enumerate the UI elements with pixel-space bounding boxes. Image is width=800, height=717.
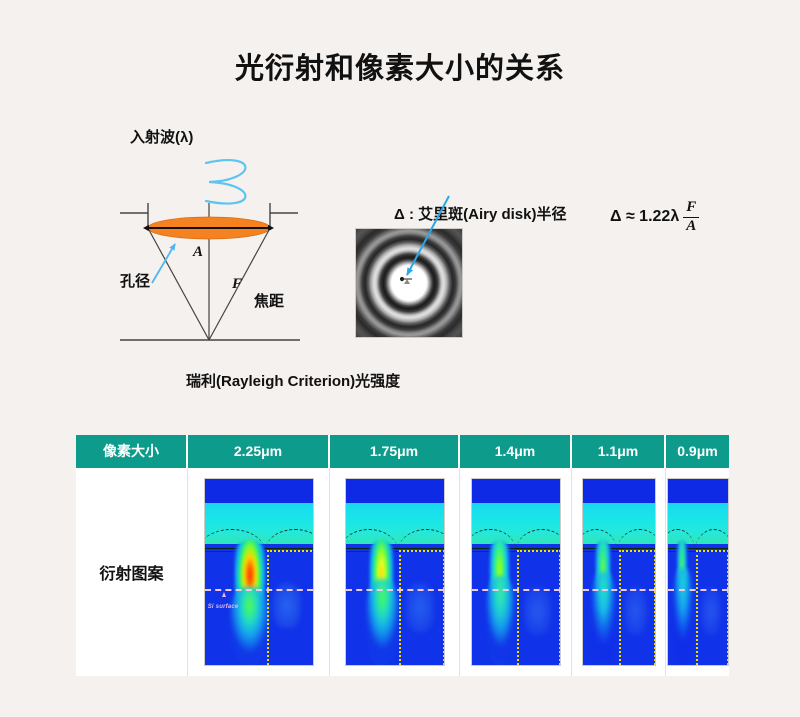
focal-length-label: 焦距 [254,290,284,311]
sim-dotted-box [517,550,560,666]
table-cell-14um [460,468,572,676]
simulation-image-09um [667,478,729,666]
sim-surface-line [472,548,560,549]
sim-si-arrow-icon [222,592,226,597]
table-cell-225um: Si surface [188,468,330,676]
sim-beam-tail [591,572,615,665]
aperture-pointer-icon [152,244,175,283]
airy-formula-lhs: Δ ≈ 1.22λ [610,208,679,226]
table-cell-175um [330,468,460,676]
airy-disk-panel [355,228,463,338]
page-root: 光衍射和像素大小的关系 [0,0,800,717]
sim-dotted-box [267,550,313,666]
table-header-11um: 1.1μm [572,435,666,468]
table-body-row: 衍射图案 Si surface [76,468,729,676]
sim-top-band [668,479,728,505]
sim-top-band [472,479,560,505]
sim-beam-tail [673,568,693,665]
simulation-image-175um [345,478,445,666]
airy-pointer-icon [407,196,449,275]
simulation-image-11um [582,478,656,666]
sim-top-band [583,479,655,505]
simulation-image-225um: Si surface [204,478,314,666]
diffraction-pattern-label: 衍射图案 [99,560,163,584]
sim-dotted-box [619,550,656,666]
airy-formula: Δ ≈ 1.22λ F A [610,200,699,235]
sim-beam-tail [366,579,399,665]
rayleigh-caption: 瑞利(Rayleigh Criterion)光强度 [186,370,400,391]
incident-wave-icon [206,160,245,203]
table-header-14um: 1.4μm [460,435,572,468]
table-cell-09um [666,468,729,676]
sim-surface-line [583,548,655,549]
table-cell-row-label: 衍射图案 [76,468,188,676]
airy-pointer-svg [385,178,515,308]
sim-si-surface-label: Si surface [208,604,239,610]
sim-top-band [205,479,313,505]
simulation-image-14um [471,478,561,666]
aperture-label: 孔径 [120,270,150,291]
airy-formula-denominator: A [683,218,699,235]
table-header-pixel-size: 像素大小 [76,435,188,468]
sim-dotted-box [696,550,728,666]
sim-surface-line [346,548,444,549]
table-header-09um: 0.9μm [666,435,729,468]
table-header-175um: 1.75μm [330,435,460,468]
table-header-row: 像素大小 2.25μm 1.75μm 1.4μm 1.1μm 0.9μm [76,435,729,468]
sim-top-band [346,479,444,505]
airy-formula-numerator: F [683,200,699,218]
incident-wave-label: 入射波(λ) [130,126,193,147]
airy-formula-fraction: F A [683,200,699,235]
sim-beam-tail [230,587,269,665]
sim-dotted-box [399,550,444,666]
table-header-225um: 2.25μm [188,435,330,468]
pixel-size-table: 像素大小 2.25μm 1.75μm 1.4μm 1.1μm 0.9μm 衍射图… [76,435,729,676]
table-cell-11um [572,468,666,676]
focal-symbol-label: F [232,276,242,293]
aperture-symbol-label: A [193,244,203,261]
page-title: 光衍射和像素大小的关系 [0,45,800,87]
